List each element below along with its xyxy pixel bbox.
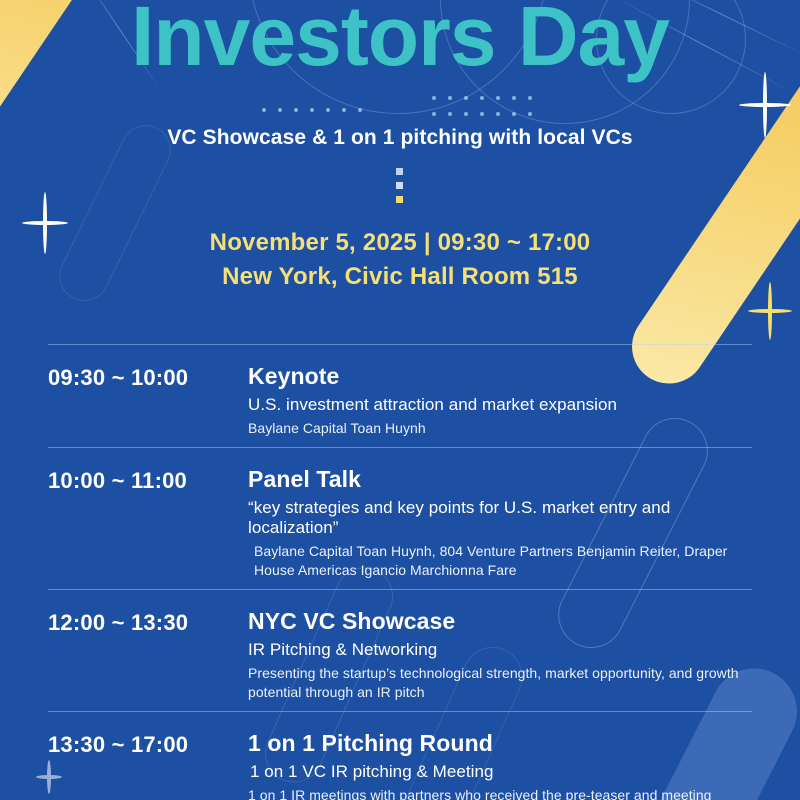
schedule-title: NYC VC Showcase xyxy=(248,608,752,635)
schedule-time: 09:30 ~ 10:00 xyxy=(48,363,248,391)
schedule-note: Baylane Capital Toan Huynh, 804 Venture … xyxy=(248,542,752,579)
schedule-row: 10:00 ~ 11:00 Panel Talk “key strategies… xyxy=(48,447,752,589)
schedule-subtitle: U.S. investment attraction and market ex… xyxy=(248,395,752,415)
schedule-detail: NYC VC Showcase IR Pitching & Networking… xyxy=(248,608,752,701)
schedule-row: 09:30 ~ 10:00 Keynote U.S. investment at… xyxy=(48,344,752,447)
schedule-subtitle: “key strategies and key points for U.S. … xyxy=(248,498,752,538)
schedule-title: Keynote xyxy=(248,363,752,390)
schedule-subtitle: IR Pitching & Networking xyxy=(248,640,752,660)
schedule-note: 1 on 1 IR meetings with partners who rec… xyxy=(248,786,752,800)
event-poster: Investors Day VC Showcase & 1 on 1 pitch… xyxy=(0,0,800,800)
schedule-detail: Keynote U.S. investment attraction and m… xyxy=(248,363,752,437)
schedule-time: 13:30 ~ 17:00 xyxy=(48,730,248,758)
poster-title: Investors Day xyxy=(0,0,800,80)
schedule-subtitle: 1 on 1 VC IR pitching & Meeting xyxy=(248,762,752,782)
event-venue: New York, Civic Hall Room 515 xyxy=(0,263,800,291)
schedule-list: 09:30 ~ 10:00 Keynote U.S. investment at… xyxy=(48,344,752,800)
schedule-title: Panel Talk xyxy=(248,466,752,493)
schedule-title: 1 on 1 Pitching Round xyxy=(248,730,752,757)
schedule-detail: Panel Talk “key strategies and key point… xyxy=(248,466,752,579)
dot-grid-decoration xyxy=(432,96,532,116)
schedule-row: 12:00 ~ 13:30 NYC VC Showcase IR Pitchin… xyxy=(48,589,752,711)
poster-subtitle: VC Showcase & 1 on 1 pitching with local… xyxy=(0,126,800,150)
event-date-time: November 5, 2025 | 09:30 ~ 17:00 xyxy=(0,229,800,257)
schedule-note: Presenting the startup’s technological s… xyxy=(248,664,752,701)
dot-grid-decoration xyxy=(262,108,362,112)
three-dot-divider-icon xyxy=(396,168,403,203)
schedule-note: Baylane Capital Toan Huynh xyxy=(248,419,752,437)
schedule-time: 12:00 ~ 13:30 xyxy=(48,608,248,636)
schedule-detail: 1 on 1 Pitching Round 1 on 1 VC IR pitch… xyxy=(248,730,752,800)
schedule-time: 10:00 ~ 11:00 xyxy=(48,466,248,494)
schedule-row: 13:30 ~ 17:00 1 on 1 Pitching Round 1 on… xyxy=(48,711,752,800)
